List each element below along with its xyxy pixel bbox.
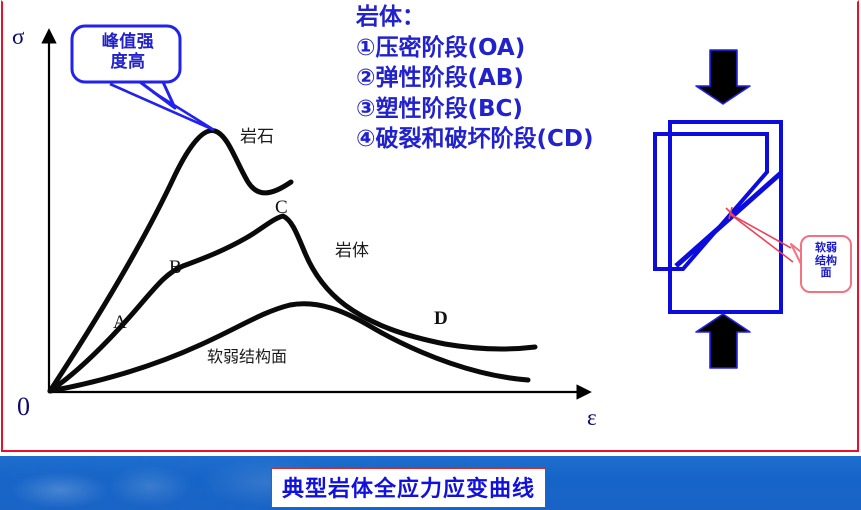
y-axis-label: σ [12, 24, 24, 50]
bottom-arrow-icon [696, 314, 750, 368]
weak-plane-line-1: 软弱 [806, 242, 846, 255]
notes-item-1: ①压密阶段(OA) [356, 33, 646, 64]
notes-block: 岩体： ①压密阶段(OA) ②弹性阶段(AB) ③塑性阶段(BC) ④破裂和破坏… [356, 2, 646, 155]
stage-marker-d: D [434, 308, 448, 330]
peak-strength-line-1: 峰值强 [78, 32, 178, 52]
weak-plane-callout-text: 软弱 结构 面 [806, 242, 846, 280]
notes-heading: 岩体： [356, 2, 646, 33]
top-arrow-icon [696, 50, 750, 104]
weak-plane-line [676, 173, 781, 266]
curve-label-rock-mass: 岩体 [335, 236, 369, 261]
notes-item-2: ②弹性阶段(AB) [356, 63, 646, 94]
peak-strength-line-2: 度高 [78, 52, 178, 72]
stage-marker-a: A [113, 312, 127, 334]
notes-item-3: ③塑性阶段(BC) [356, 94, 646, 125]
banner-title-box: 典型岩体全应力应变曲线 [271, 468, 546, 508]
curve-label-rock: 岩石 [240, 122, 274, 147]
stage-marker-b: B [169, 257, 182, 279]
specimen-diagram [655, 50, 851, 368]
curve-label-weak-plane: 软弱结构面 [207, 343, 287, 367]
stage-marker-c: C [275, 197, 288, 219]
notes-item-4: ④破裂和破坏阶段(CD) [356, 124, 646, 155]
banner-title: 典型岩体全应力应变曲线 [282, 477, 535, 502]
slide-canvas: σ ε 0 峰值强 度高 岩石 岩体 软弱结构面 A B C D 岩体： ①压密… [0, 0, 861, 510]
weak-plane-leader-2 [730, 214, 793, 262]
origin-label: 0 [17, 392, 30, 422]
peak-strength-callout-text: 峰值强 度高 [78, 32, 178, 72]
weak-plane-line-3: 面 [806, 267, 846, 280]
callout-leader-line-2 [153, 92, 214, 130]
x-axis-label: ε [587, 405, 597, 431]
